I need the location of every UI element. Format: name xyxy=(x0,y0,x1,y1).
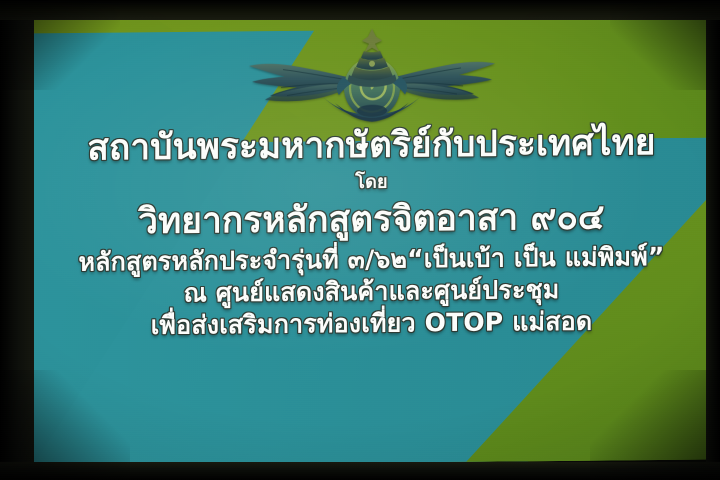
presentation-slide: สถาบันพระมหากษัตริย์กับประเทศไทย โดย วิท… xyxy=(33,13,710,466)
slide-text-block: สถาบันพระมหากษัตริย์กับประเทศไทย โดย วิท… xyxy=(33,125,710,340)
screen-frame-right xyxy=(706,0,720,480)
screen-frame-left xyxy=(0,0,34,480)
slide-venue: ณ ศูนย์แสดงสินค้าและศูนย์ประชุม xyxy=(39,275,704,307)
screen-frame-bottom xyxy=(0,462,720,480)
slide-byline-label: โดย xyxy=(39,171,704,196)
photograph-of-projected-slide: สถาบันพระมหากษัตริย์กับประเทศไทย โดย วิท… xyxy=(0,0,720,480)
screen-frame-top xyxy=(0,0,720,20)
slide-speaker: วิทยากรหลักสูตรจิตอาสา ๙๐๔ xyxy=(39,199,704,242)
slide-course: หลักสูตรหลักประจำรุ่นที่ ๓/๖๒“เป็นเบ้า เ… xyxy=(39,243,704,275)
slide-title: สถาบันพระมหากษัตริย์กับประเทศไทย xyxy=(39,125,704,168)
royal-thai-winged-garuda-emblem xyxy=(243,24,501,134)
